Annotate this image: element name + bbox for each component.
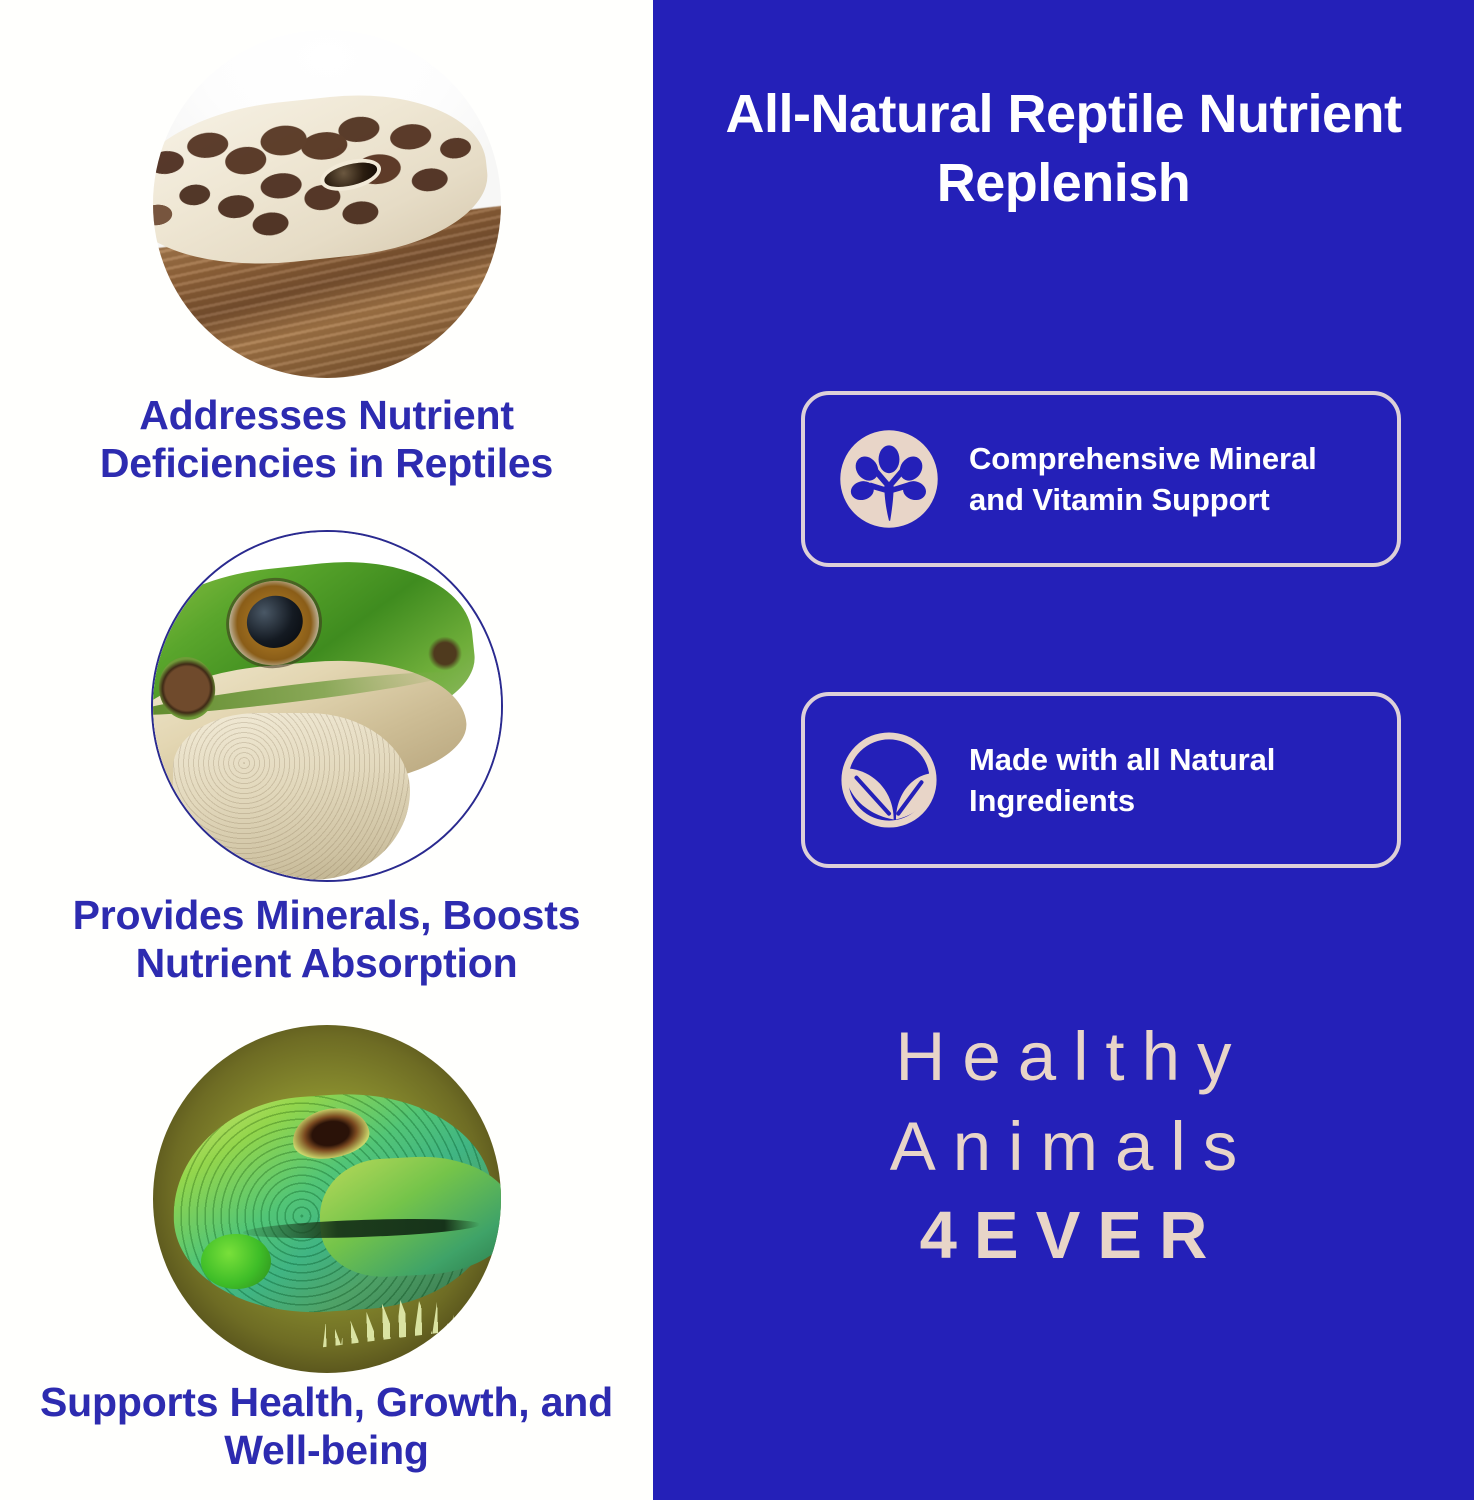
feature-badge: Made with all Natural Ingredients bbox=[801, 692, 1401, 868]
gecko-scene bbox=[153, 30, 501, 378]
feature-badge: Comprehensive Mineral and Vitamin Suppor… bbox=[801, 391, 1401, 567]
feature-label: Made with all Natural Ingredients bbox=[969, 739, 1371, 821]
benefit-caption: Addresses Nutrient Deficiencies in Repti… bbox=[0, 392, 653, 488]
brand-line-animals: Animals bbox=[653, 1102, 1474, 1192]
iguana-snout-shape bbox=[317, 1152, 501, 1280]
leopard-gecko-photo bbox=[153, 30, 501, 378]
leaves-circle-icon bbox=[831, 722, 947, 838]
frog-pupil-shape bbox=[242, 590, 308, 652]
benefit-item: Provides Minerals, Boosts Nutrient Absor… bbox=[0, 530, 653, 988]
benefits-column: Addresses Nutrient Deficiencies in Repti… bbox=[0, 0, 653, 1500]
tree-circle-icon bbox=[831, 421, 947, 537]
frog-nostril-shape bbox=[424, 636, 466, 671]
feature-label: Comprehensive Mineral and Vitamin Suppor… bbox=[969, 438, 1371, 520]
brand-logo: Healthy Animals 4EVER bbox=[653, 1012, 1474, 1276]
brand-line-healthy: Healthy bbox=[653, 1012, 1474, 1102]
iguana-scene bbox=[153, 1025, 501, 1373]
frog-throat-shape bbox=[173, 713, 410, 880]
gecko-eye-shape bbox=[322, 157, 380, 190]
benefit-item: Supports Health, Growth, and Well-being bbox=[0, 1025, 653, 1475]
iguana-eardrum-shape bbox=[201, 1234, 271, 1290]
frog-scene bbox=[153, 532, 501, 880]
green-iguana-photo bbox=[153, 1025, 501, 1373]
green-tree-frog-photo bbox=[151, 530, 503, 882]
page-title: All-Natural Reptile Nutrient Replenish bbox=[653, 80, 1474, 218]
brand-line-4ever: 4EVER bbox=[653, 1195, 1474, 1277]
benefit-caption: Supports Health, Growth, and Well-being bbox=[0, 1379, 653, 1475]
brand-panel: All-Natural Reptile Nutrient Replenish bbox=[653, 0, 1474, 1500]
benefit-caption: Provides Minerals, Boosts Nutrient Absor… bbox=[0, 892, 653, 988]
benefit-item: Addresses Nutrient Deficiencies in Repti… bbox=[0, 30, 653, 488]
product-infographic: Addresses Nutrient Deficiencies in Repti… bbox=[0, 0, 1474, 1500]
